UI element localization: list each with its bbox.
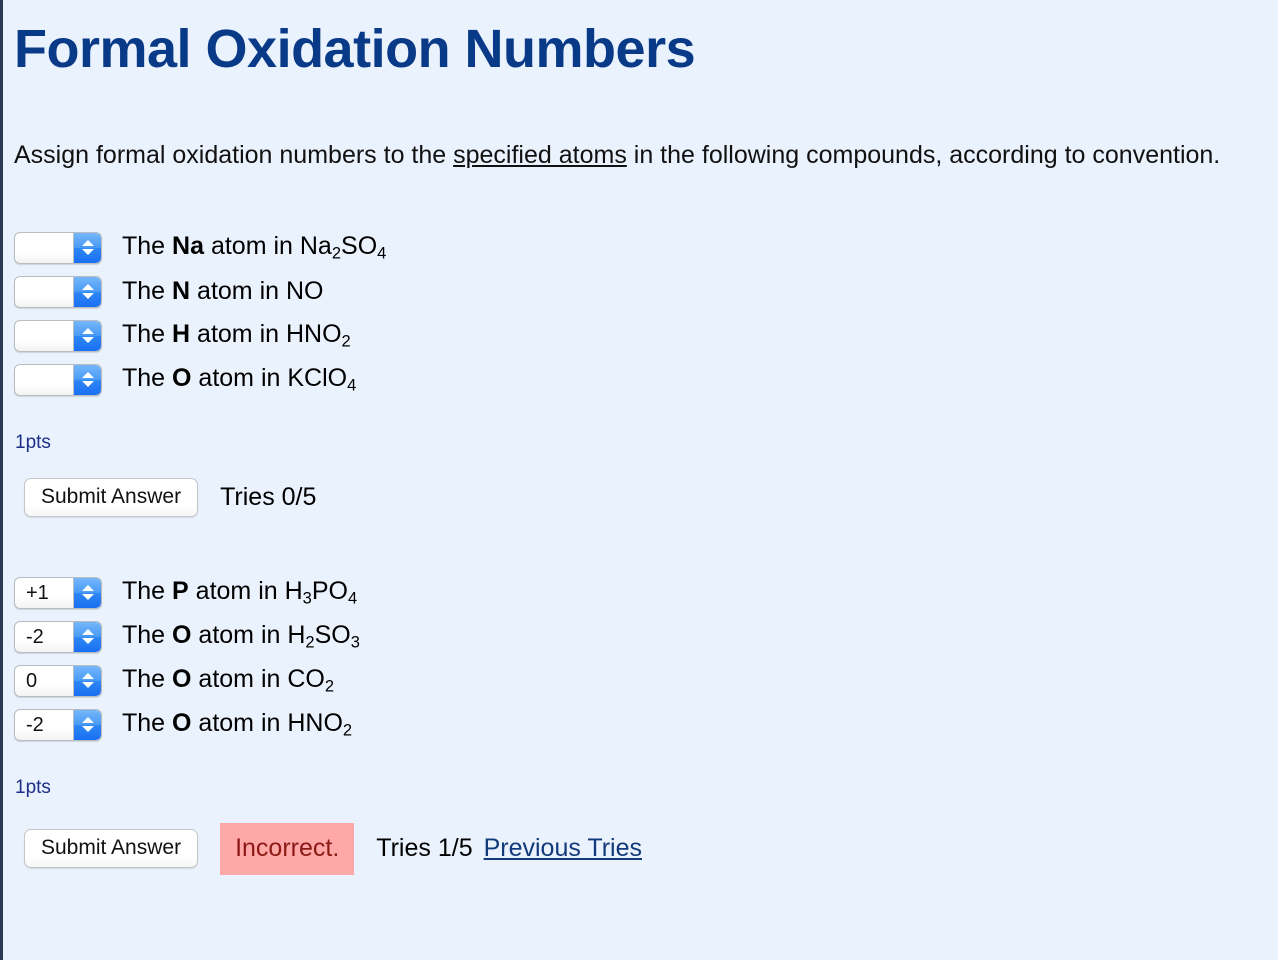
chevron-down-icon bbox=[82, 594, 94, 600]
chevron-up-icon bbox=[82, 629, 94, 635]
instructions-text-after: in the following compounds, according to… bbox=[627, 141, 1220, 169]
chevron-up-icon bbox=[82, 240, 94, 246]
question-label: The O atom in HNO2 bbox=[122, 711, 352, 739]
previous-tries-link[interactable]: Previous Tries bbox=[484, 834, 642, 863]
formula-subscript: 4 bbox=[377, 244, 386, 262]
select-value: -2 bbox=[15, 715, 44, 735]
chemical-formula: NO bbox=[286, 277, 324, 305]
chemical-formula: H2SO3 bbox=[287, 621, 360, 649]
formula-subscript: 4 bbox=[348, 589, 357, 607]
target-atom-symbol: H bbox=[172, 320, 190, 348]
chevron-up-down-icon[interactable] bbox=[73, 321, 101, 351]
submit-answer-button[interactable]: Submit Answer bbox=[24, 829, 198, 868]
chemical-formula: Na2SO4 bbox=[300, 232, 386, 260]
chevron-up-icon bbox=[82, 717, 94, 723]
page-container: Formal Oxidation Numbers Assign formal o… bbox=[0, 0, 1278, 875]
chevron-up-down-icon[interactable] bbox=[73, 277, 101, 307]
chevron-down-icon bbox=[82, 337, 94, 343]
question-row: The N atom in NO bbox=[14, 272, 1278, 312]
target-atom-symbol: O bbox=[172, 665, 191, 693]
formula-subscript: 2 bbox=[342, 332, 351, 350]
chemical-formula: KClO4 bbox=[287, 364, 356, 392]
oxidation-number-select[interactable]: +1 bbox=[14, 577, 102, 609]
chevron-up-icon bbox=[82, 585, 94, 591]
target-atom-symbol: Na bbox=[172, 232, 204, 260]
chevron-up-down-icon[interactable] bbox=[73, 365, 101, 395]
chemical-formula: CO2 bbox=[287, 665, 334, 693]
question-label: The O atom in CO2 bbox=[122, 667, 334, 695]
oxidation-number-select[interactable]: -2 bbox=[14, 621, 102, 653]
specified-atoms-emphasis: specified atoms bbox=[453, 141, 627, 169]
answer-actions: Submit AnswerIncorrect.Tries 1/5Previous… bbox=[24, 823, 1278, 875]
target-atom-symbol: O bbox=[172, 709, 191, 737]
select-value: -2 bbox=[15, 627, 44, 647]
oxidation-number-select[interactable] bbox=[14, 276, 102, 308]
chevron-up-down-icon[interactable] bbox=[73, 666, 101, 696]
chevron-up-down-icon[interactable] bbox=[73, 622, 101, 652]
question-row: The O atom in KClO4 bbox=[14, 360, 1278, 400]
question-row: -2The O atom in H2SO3 bbox=[14, 617, 1278, 657]
select-value: 0 bbox=[15, 671, 37, 691]
instructions-text-before: Assign formal oxidation numbers to the bbox=[14, 141, 453, 169]
chevron-down-icon bbox=[82, 249, 94, 255]
target-atom-symbol: N bbox=[172, 277, 190, 305]
chevron-up-icon bbox=[82, 372, 94, 378]
chevron-up-down-icon[interactable] bbox=[73, 233, 101, 263]
formula-subscript: 2 bbox=[325, 677, 334, 695]
target-atom-symbol: P bbox=[172, 577, 189, 605]
formula-subscript: 2 bbox=[332, 244, 341, 262]
chevron-up-icon bbox=[82, 284, 94, 290]
chevron-down-icon bbox=[82, 381, 94, 387]
question-row: +1The P atom in H3PO4 bbox=[14, 573, 1278, 613]
question-row: 0The O atom in CO2 bbox=[14, 661, 1278, 701]
tries-counter: Tries 1/5 bbox=[376, 834, 472, 863]
question-row: The H atom in HNO2 bbox=[14, 316, 1278, 356]
chevron-down-icon bbox=[82, 293, 94, 299]
chevron-up-down-icon[interactable] bbox=[73, 710, 101, 740]
points-label: 1pts bbox=[15, 432, 1278, 454]
chemical-formula: HNO2 bbox=[287, 709, 352, 737]
target-atom-symbol: O bbox=[172, 621, 191, 649]
question-label: The Na atom in Na2SO4 bbox=[122, 234, 386, 262]
problems-list: The Na atom in Na2SO4The N atom in NOThe… bbox=[14, 228, 1278, 875]
chevron-down-icon bbox=[82, 682, 94, 688]
instructions-paragraph: Assign formal oxidation numbers to the s… bbox=[14, 139, 1266, 172]
question-label: The P atom in H3PO4 bbox=[122, 579, 357, 607]
problem-block: The Na atom in Na2SO4The N atom in NOThe… bbox=[14, 228, 1278, 517]
page-title: Formal Oxidation Numbers bbox=[14, 0, 1278, 82]
question-label: The O atom in KClO4 bbox=[122, 366, 356, 394]
oxidation-number-select[interactable]: -2 bbox=[14, 709, 102, 741]
question-row: The Na atom in Na2SO4 bbox=[14, 228, 1278, 268]
points-label: 1pts bbox=[15, 777, 1278, 799]
oxidation-number-select[interactable] bbox=[14, 364, 102, 396]
chevron-down-icon bbox=[82, 638, 94, 644]
question-label: The H atom in HNO2 bbox=[122, 322, 351, 350]
chevron-up-down-icon[interactable] bbox=[73, 578, 101, 608]
question-label: The N atom in NO bbox=[122, 279, 323, 304]
target-atom-symbol: O bbox=[172, 364, 191, 392]
select-value: +1 bbox=[15, 583, 49, 603]
formula-subscript: 4 bbox=[347, 376, 356, 394]
oxidation-number-select[interactable]: 0 bbox=[14, 665, 102, 697]
formula-subscript: 2 bbox=[305, 633, 314, 651]
chevron-up-icon bbox=[82, 328, 94, 334]
problem-block: +1The P atom in H3PO4-2The O atom in H2S… bbox=[14, 573, 1278, 875]
tries-counter: Tries 0/5 bbox=[220, 483, 316, 512]
question-label: The O atom in H2SO3 bbox=[122, 623, 360, 651]
formula-subscript: 3 bbox=[303, 589, 312, 607]
question-row: -2The O atom in HNO2 bbox=[14, 705, 1278, 745]
formula-subscript: 3 bbox=[351, 633, 360, 651]
submit-answer-button[interactable]: Submit Answer bbox=[24, 478, 198, 517]
chemical-formula: H3PO4 bbox=[285, 577, 358, 605]
oxidation-number-select[interactable] bbox=[14, 320, 102, 352]
chevron-up-icon bbox=[82, 673, 94, 679]
formula-subscript: 2 bbox=[343, 721, 352, 739]
answer-actions: Submit AnswerTries 0/5 bbox=[24, 478, 1278, 517]
feedback-status-badge: Incorrect. bbox=[220, 823, 354, 875]
chevron-down-icon bbox=[82, 726, 94, 732]
oxidation-number-select[interactable] bbox=[14, 232, 102, 264]
chemical-formula: HNO2 bbox=[286, 320, 351, 348]
